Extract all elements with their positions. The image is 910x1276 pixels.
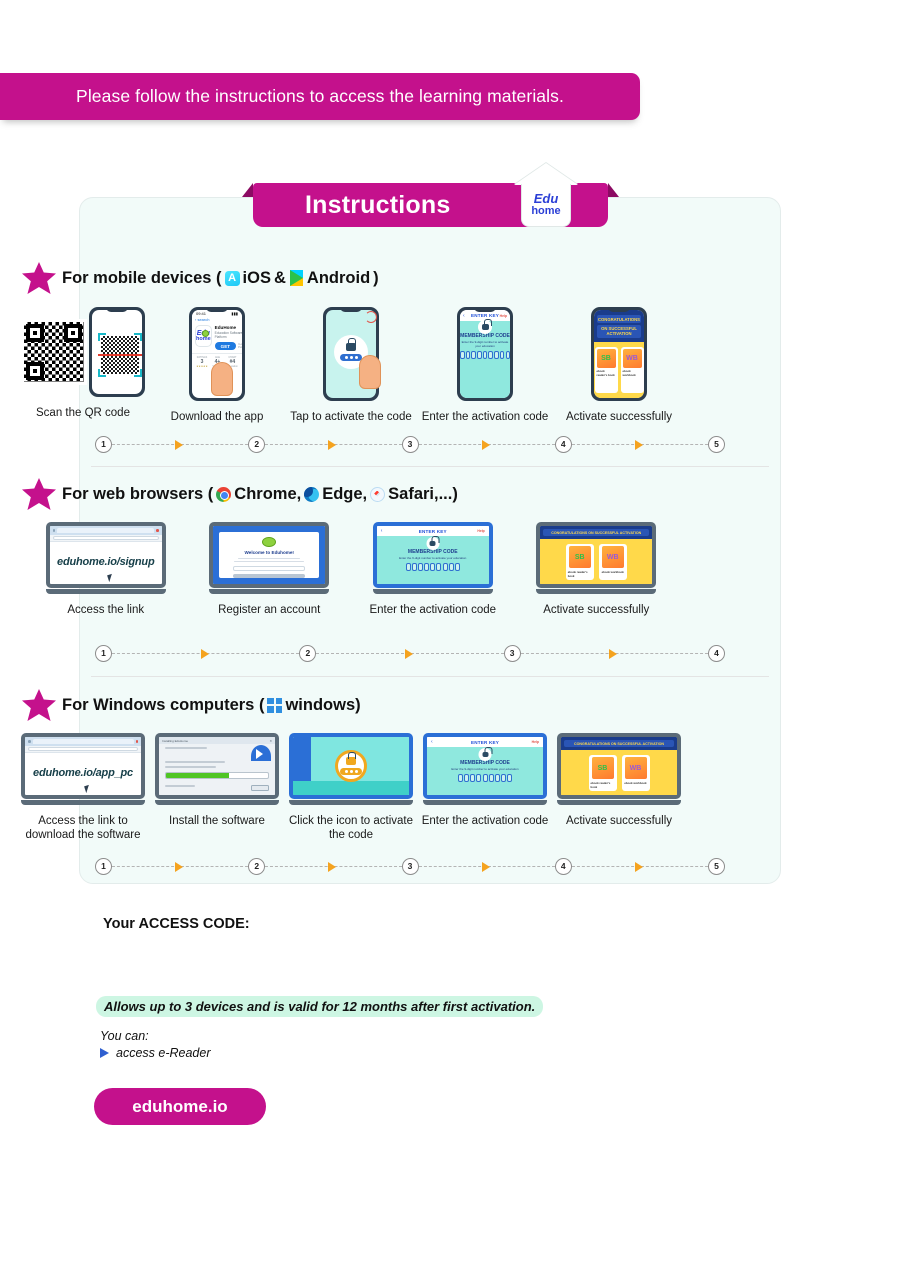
section-web-header: For web browsers ( Chrome, Edge, Safari,… [0,478,702,510]
windows-step-5-caption: Activate successfully [566,814,672,828]
windows-step-5-image: CONGRATULATIONS ON SUCCESSFUL ACTIVATION… [557,733,681,805]
step-connector [521,653,708,654]
chick-icon [202,330,209,337]
book-cover-wb: WB [623,349,642,368]
windows-step-3-image [289,733,413,805]
register-card: Welcome to Eduhome! [219,532,319,578]
enterkey-title: ENTER KEY [471,740,499,745]
qr-scan-frame [101,336,139,374]
book-cover-sb: SB [597,349,616,368]
app-icon-home: home [196,337,211,343]
phone-screen: ‹ ENTER KEY Help MEMBERSHIP CODE Enter t… [460,310,510,398]
house-body-shape: Edu home [521,184,571,227]
web-step-2-image: Welcome to Eduhome! [209,522,329,594]
house-roof-shape [514,163,578,185]
section-web-title-prefix: For web browsers ( [62,485,213,504]
appstore-inapp-note: In-App Purchases [238,343,242,349]
web-url-text: eduhome.io/signup [50,556,162,568]
mobile-step-1-caption: Scan the QR code [36,406,130,420]
qr-finder-tr [64,324,82,342]
list-item: access e-Reader [100,1046,211,1060]
laptop-lid: CONGRATULATIONS ON SUCCESSFUL ACTIVATION… [557,733,681,799]
membership-code-instruction: Enter the 9-digit number to activate you… [460,340,510,348]
congrats-line-2: ON SUCCESSFUL ACTIVATION [588,531,641,535]
mouse-cursor-icon [107,573,117,582]
code-input-boxes[interactable] [427,774,543,782]
hand-pointer-icon [211,362,233,396]
section-windows-title: For Windows computers ( windows) [62,696,361,715]
book-label-wb: ebook workbook [624,781,646,785]
app-store-icon [225,271,240,286]
book-cover-sb: SB [592,757,614,779]
qr-finder-tl [26,324,44,342]
step-connector [572,866,708,867]
mobile-progress-track: 1 2 3 4 5 [95,434,725,454]
instruction-banner: Please follow the instructions to access… [0,73,640,120]
congrats-banner: CONGRATULATIONS ON SUCCESSFUL ACTIVATION [564,740,674,747]
laptop-lid: CONGRATULATIONS ON SUCCESSFUL ACTIVATION… [536,522,656,588]
section-windows: For Windows computers ( windows) [0,689,702,843]
laptop-lid: eduhome.io/signup [46,522,166,588]
installer-logo-icon [251,745,271,761]
help-link[interactable]: Help [500,314,507,318]
edge-icon [304,487,319,502]
step-node-4: 4 [555,858,572,875]
star-icon [22,478,56,510]
access-code-title: Your ACCESS CODE: [103,916,250,932]
laptop-lid: ‹ ENTER KEY Help MEMBERSHIP CODE Enter t… [373,522,493,588]
laptop-lid: ‹ ENTER KEY Help MEMBERSHIP CODE Enter t… [423,733,547,799]
section-mobile-header: For mobile devices ( iOS & Android ) [0,262,702,294]
book-card-sb[interactable]: SB ebook reader's book [589,755,617,791]
windows-step-2-caption: Install the software [169,814,265,828]
step-node-3: 3 [402,858,419,875]
book-label-sb: ebook reader's book [591,781,615,789]
web-step-3-caption: Enter the activation code [369,603,496,617]
logo-home-text: home [531,205,560,217]
step-node-1: 1 [95,436,112,453]
congrats-books: SB ebook reader's book WB ebook workbook [561,750,677,796]
book-card-wb[interactable]: WB ebook workbook [621,347,644,394]
phone-notch [340,307,362,312]
book-label-sb: ebook reader's book [597,369,616,377]
install-progress-fill [166,773,229,778]
android-label: Android [307,269,370,288]
book-code-wb: WB [626,355,638,362]
close-icon[interactable]: ✕ [269,739,272,743]
step-node-2: 2 [248,858,265,875]
activate-lock-badge[interactable] [335,750,367,782]
mobile-step-4-caption: Enter the activation code [422,410,549,424]
enterkey-body: MEMBERSHIP CODE Enter the 9-digit number… [427,747,543,795]
google-play-icon [290,270,303,286]
status-time: 09:41 [196,311,206,316]
phone-notch [608,307,630,312]
section-divider-1 [91,466,769,467]
book-card-sb[interactable]: SB ebook reader's book [595,347,618,394]
laptop-lid [289,733,413,799]
installer-titlebar: Installing EduHome ✕ [159,737,275,744]
windows-progress-track: 1 2 3 4 5 [95,856,725,876]
step-node-4: 4 [708,645,725,662]
laptop-lid: Welcome to Eduhome! [209,522,329,588]
mobile-step-2-image: 09:41 ▮▮▮ ‹ search Edu home [189,307,245,401]
step-node-4: 4 [555,436,572,453]
eduhome-app-icon: Edu home [195,325,212,347]
padlock-icon [430,541,436,546]
qr-finder-bl [26,362,44,380]
phone-notch [206,307,228,312]
installer-window: Installing EduHome ✕ [159,737,275,795]
mobile-step-5-caption: Activate successfully [566,410,672,424]
window-close-dot[interactable] [156,529,159,532]
appstore-get-button[interactable]: GET [215,342,236,350]
congrats-line-2: ON SUCCESSFUL ACTIVATION [611,742,664,746]
installer-title: Installing EduHome [162,739,188,743]
phone-congrats-mockup: CONGRATULATIONS ON SUCCESSFUL ACTIVATION… [591,307,647,401]
chrome-label: Chrome, [234,485,301,504]
stat-stars: ★★★★★ [196,365,208,368]
laptop-base [155,800,279,805]
back-chevron-icon[interactable]: ‹ [431,739,433,745]
step-connector [112,444,248,445]
arrow-bullet-icon [100,1048,109,1058]
star-icon [22,689,56,721]
chick-icon [262,537,276,547]
help-link[interactable]: Help [477,529,484,533]
browser-tab-bar [50,526,162,535]
back-chevron-icon[interactable]: ‹ [381,528,383,534]
padlock-icon [482,324,489,330]
web-step-2-caption: Register an account [218,603,320,617]
book-code-sb: SB [598,765,608,772]
windows-step-2: Installing EduHome ✕ [150,733,284,843]
page-root: Please follow the instructions to access… [0,0,910,1276]
tab-dot [28,740,31,743]
phone-scanner-mockup [89,307,145,397]
appstore-app-subtitle: Education Software Platform [215,331,242,339]
membership-code-instruction: Enter the 9-digit number to activate you… [427,767,543,771]
step-connector [265,866,401,867]
windows-step-2-image: Installing EduHome ✕ [155,733,279,805]
windows-label: windows) [285,696,360,715]
windows-step-3-caption: Click the icon to activate the code [284,814,418,843]
enterkey-title: ENTER KEY [471,313,499,318]
book-code-sb: SB [601,355,611,362]
installer-next-button[interactable] [251,785,269,791]
browser-tab-bar [25,737,141,746]
book-code-wb: WB [630,765,642,772]
browser-url-bar[interactable] [50,535,162,542]
url-input[interactable] [53,536,159,541]
safari-label: Safari,...) [388,485,458,504]
web-step-4: CONGRATULATIONS ON SUCCESSFUL ACTIVATION… [515,522,679,617]
back-chevron-icon[interactable]: ‹ [463,313,465,319]
web-step-4-caption: Activate successfully [543,603,649,617]
phone-enterkey-mockup: ‹ ENTER KEY Help MEMBERSHIP CODE Enter t… [457,307,513,401]
laptop-base [21,800,145,805]
congrats-line-1: CONGRATULATIONS [551,531,587,535]
mobile-step-4: ‹ ENTER KEY Help MEMBERSHIP CODE Enter t… [418,307,552,424]
eduhome-website-button[interactable]: eduhome.io [94,1088,266,1125]
windows-icon [267,698,282,713]
step-node-2: 2 [248,436,265,453]
lock-circle-icon [479,748,492,761]
enterkey-header: ‹ ENTER KEY Help [377,526,489,536]
section-windows-title-prefix: For Windows computers ( [62,696,264,715]
mouse-cursor-icon [84,784,94,793]
register-email-input[interactable] [233,566,305,571]
installer-line [165,766,216,768]
web-step-1: eduhome.io/signup Access the link [24,522,188,617]
mobile-step-4-image: ‹ ENTER KEY Help MEMBERSHIP CODE Enter t… [457,307,513,401]
laptop-base [373,589,493,594]
laptop-lid: Installing EduHome ✕ [155,733,279,799]
congrats-line-1: CONGRATULATIONS [574,742,610,746]
scan-corner-tl [98,333,106,341]
section-web-title: For web browsers ( Chrome, Edge, Safari,… [62,485,458,504]
section-mobile-title-prefix: For mobile devices ( [62,269,222,288]
code-input-boxes[interactable] [377,563,489,571]
step-node-3: 3 [402,436,419,453]
step-node-5: 5 [708,436,725,453]
scan-corner-br [134,369,142,377]
book-card-sb[interactable]: SB ebook reader's book [566,544,594,580]
mobile-step-5-image: CONGRATULATIONS ON SUCCESSFUL ACTIVATION… [591,307,647,401]
congrats-line-2: ON SUCCESSFUL ACTIVATION [597,325,641,338]
book-card-wb[interactable]: WB ebook workbook [622,755,650,791]
installer-line [165,785,195,787]
web-step-4-image: CONGRATULATIONS ON SUCCESSFUL ACTIVATION… [536,522,656,594]
web-steps: eduhome.io/signup Access the link [0,522,702,617]
mobile-step-1: Scan the QR code [16,307,150,424]
step-connector [572,444,708,445]
register-submit-button[interactable] [233,574,305,578]
register-text-line [238,558,300,559]
code-dots [340,354,362,361]
windows-steps: eduhome.io/app_pc Access the link to dow… [0,733,702,843]
laptop-base [536,589,656,594]
step-connector [316,653,503,654]
laptop-base [289,800,413,805]
ampersand-label: & [274,269,286,288]
appstore-app-name: EduHome [215,325,242,330]
step-connector [265,444,401,445]
windows-step-5: CONGRATULATIONS ON SUCCESSFUL ACTIVATION… [552,733,686,843]
laptop-base [557,800,681,805]
star-icon [22,262,56,294]
you-can-label: You can: [100,1029,149,1043]
mobile-step-3: Tap to activate the code [284,307,418,424]
section-web: For web browsers ( Chrome, Edge, Safari,… [0,478,702,617]
enterkey-title: ENTER KEY [419,529,447,534]
phone-notch [474,307,496,312]
section-mobile: For mobile devices ( iOS & Android ) [0,262,702,424]
mobile-steps: Scan the QR code 09:41 ▮▮▮ ‹ search [0,307,702,424]
laptop-lid: eduhome.io/app_pc [21,733,145,799]
step-node-1: 1 [95,858,112,875]
help-link[interactable]: Help [532,740,539,744]
windows-step-3: Click the icon to activate the code [284,733,418,843]
edge-label: Edge, [322,485,367,504]
register-welcome: Welcome to Eduhome! [245,550,294,555]
book-label-wb: ebook workbook [623,369,642,377]
step-connector [112,653,299,654]
web-step-3-image: ‹ ENTER KEY Help MEMBERSHIP CODE Enter t… [373,522,493,594]
bullet-text: access e-Reader [116,1046,211,1060]
windows-step-4-caption: Enter the activation code [422,814,549,828]
book-label-sb: ebook reader's book [568,570,592,578]
windows-step-1-caption: Access the link to download the software [16,814,150,843]
phone-screen [92,310,142,394]
book-card-wb[interactable]: WB ebook workbook [599,544,627,580]
windows-step-4-image: ‹ ENTER KEY Help MEMBERSHIP CODE Enter t… [423,733,547,805]
scan-corner-bl [98,369,106,377]
code-input-boxes[interactable] [460,351,510,359]
register-page: Welcome to Eduhome! [213,526,325,584]
congrats-books: SB ebook reader's book WB ebook workbook [594,342,644,399]
congrats-line-1: CONGRATULATIONS [597,315,641,323]
book-code-sb: SB [575,554,585,561]
window-close-dot[interactable] [136,740,139,743]
mobile-step-5: CONGRATULATIONS ON SUCCESSFUL ACTIVATION… [552,307,686,424]
enterkey-body: MEMBERSHIP CODE Enter the 9-digit number… [460,321,510,398]
book-cover-sb: SB [569,546,591,568]
web-step-1-image: eduhome.io/signup [46,522,166,594]
enterkey-header: ‹ ENTER KEY Help [427,737,543,747]
windows-step-4: ‹ ENTER KEY Help MEMBERSHIP CODE Enter t… [418,733,552,843]
scan-corner-tr [134,333,142,341]
mobile-step-2-caption: Download the app [171,410,264,424]
phone-notch [106,307,128,312]
laptop-base [423,800,547,805]
section-divider-2 [91,676,769,677]
phone-screen: CONGRATULATIONS ON SUCCESSFUL ACTIVATION… [594,310,644,398]
section-mobile-title: For mobile devices ( iOS & Android ) [62,269,379,288]
mobile-step-2: 09:41 ▮▮▮ ‹ search Edu home [150,307,284,424]
tap-arrow-icon [365,311,377,323]
hand-pointer-icon [359,355,381,389]
code-dots [340,768,362,775]
laptop-base [46,589,166,594]
step-node-1: 1 [95,645,112,662]
congrats-books: SB ebook reader's book WB ebook workbook [540,539,652,585]
mobile-step-3-image [323,307,379,401]
status-icons: ▮▮▮ [231,311,238,316]
lock-circle-icon [478,320,492,334]
step-node-2: 2 [299,645,316,662]
browser-url-bar[interactable] [25,746,141,753]
lock-circle-icon [426,537,439,550]
tab-dot [53,529,56,532]
chrome-icon [216,487,231,502]
web-step-3: ‹ ENTER KEY Help MEMBERSHIP CODE Enter t… [351,522,515,617]
url-input[interactable] [28,747,138,752]
book-cover-wb: WB [602,546,624,568]
book-cover-wb: WB [625,757,647,779]
web-step-1-caption: Access the link [67,603,144,617]
membership-code-instruction: Enter the 9-digit number to activate you… [377,556,489,560]
enterkey-body: MEMBERSHIP CODE Enter the 9-digit number… [377,536,489,584]
step-connector [112,866,248,867]
padlock-icon [482,752,488,757]
ios-label: iOS [243,269,271,288]
banner-text: Please follow the instructions to access… [76,86,564,107]
eduhome-house-logo-icon: Edu home [514,163,578,227]
congrats-banner: CONGRATULATIONS ON SUCCESSFUL ACTIVATION [543,529,649,536]
safari-icon [370,487,385,502]
web-progress-track: 1 2 3 4 [95,643,725,663]
web-step-2: Welcome to Eduhome! Register an account [188,522,352,617]
padlock-icon [346,343,356,351]
laptop-base [209,589,329,594]
step-node-3: 3 [504,645,521,662]
page-title: Instructions [305,191,450,220]
congrats-header: CONGRATULATIONS ON SUCCESSFUL ACTIVATION [594,310,644,342]
windows-step-1: eduhome.io/app_pc Access the link to dow… [16,733,150,843]
qr-code-icon [21,319,87,385]
windows-step-1-image: eduhome.io/app_pc [21,733,145,805]
mobile-step-3-caption: Tap to activate the code [290,410,411,424]
section-windows-header: For Windows computers ( windows) [0,689,702,721]
register-text-line [234,561,304,562]
install-progress-bar [165,772,269,779]
padlock-icon [346,757,356,765]
installer-line [165,761,225,763]
logo-edu-text: Edu [534,192,559,205]
scan-line [98,354,142,356]
book-code-wb: WB [607,554,619,561]
pc-url-text: eduhome.io/app_pc [25,767,141,779]
step-connector [419,866,555,867]
installer-line [165,747,207,749]
step-node-5: 5 [708,858,725,875]
book-label-wb: ebook workbook [602,570,624,574]
step-connector [419,444,555,445]
validity-badge: Allows up to 3 devices and is valid for … [96,996,543,1017]
section-mobile-title-suffix: ) [373,269,379,288]
mobile-step-1-image [21,307,145,397]
